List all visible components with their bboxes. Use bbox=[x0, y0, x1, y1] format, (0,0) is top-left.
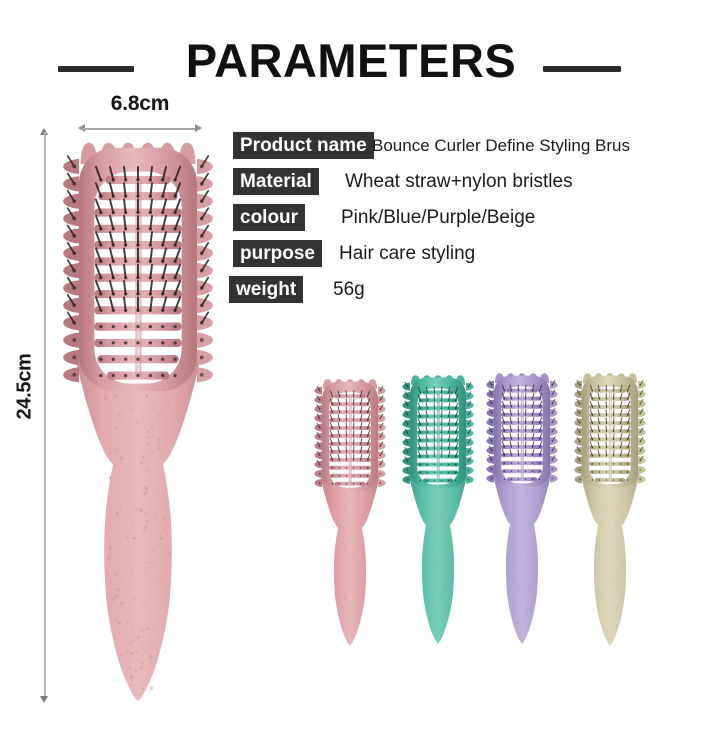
spec-label-purpose: purpose bbox=[233, 240, 322, 267]
spec-value-purpose: Hair care styling bbox=[339, 240, 475, 267]
arrow-head-down-icon bbox=[40, 696, 48, 703]
spec-label-colour: colour bbox=[233, 204, 305, 231]
spec-label-material: Material bbox=[233, 168, 319, 195]
arrow-head-right-icon bbox=[195, 124, 202, 132]
table-row: weight 56g bbox=[233, 276, 702, 312]
table-row: colour Pink/Blue/Purple/Beige bbox=[233, 204, 702, 240]
spec-value-weight: 56g bbox=[333, 276, 365, 303]
product-spec-image: PARAMETERS 6.8cm 24.5cm Product name Bou… bbox=[0, 0, 702, 745]
table-row: purpose Hair care styling bbox=[233, 240, 702, 276]
spec-value-colour: Pink/Blue/Purple/Beige bbox=[341, 204, 535, 231]
variant-brush-pink bbox=[312, 376, 388, 646]
hero-product-image-pink-brush bbox=[58, 136, 218, 702]
specification-table: Product name Bounce Curler Define Stylin… bbox=[233, 132, 702, 312]
arrow-shaft bbox=[44, 132, 46, 699]
table-row: Product name Bounce Curler Define Stylin… bbox=[233, 132, 702, 168]
width-dimension-arrow bbox=[78, 124, 202, 133]
width-dimension-label: 6.8cm bbox=[78, 92, 202, 116]
page-title: PARAMETERS bbox=[0, 36, 702, 86]
title-banner: PARAMETERS bbox=[0, 22, 702, 74]
spec-value-material: Wheat straw+nylon bristles bbox=[345, 168, 573, 195]
spec-label-product-name: Product name bbox=[233, 132, 374, 159]
variant-brush-teal bbox=[400, 372, 476, 644]
height-dimension-label: 24.5cm bbox=[14, 339, 37, 435]
variant-brush-purple bbox=[484, 370, 560, 644]
variant-brush-beige bbox=[572, 370, 648, 646]
title-rule-right bbox=[543, 66, 621, 72]
spec-label-weight: weight bbox=[229, 276, 303, 303]
table-row: Material Wheat straw+nylon bristles bbox=[233, 168, 702, 204]
height-dimension-arrow bbox=[40, 128, 49, 703]
spec-value-product-name: Bounce Curler Define Styling Brus bbox=[372, 132, 630, 159]
arrow-shaft bbox=[82, 128, 198, 130]
